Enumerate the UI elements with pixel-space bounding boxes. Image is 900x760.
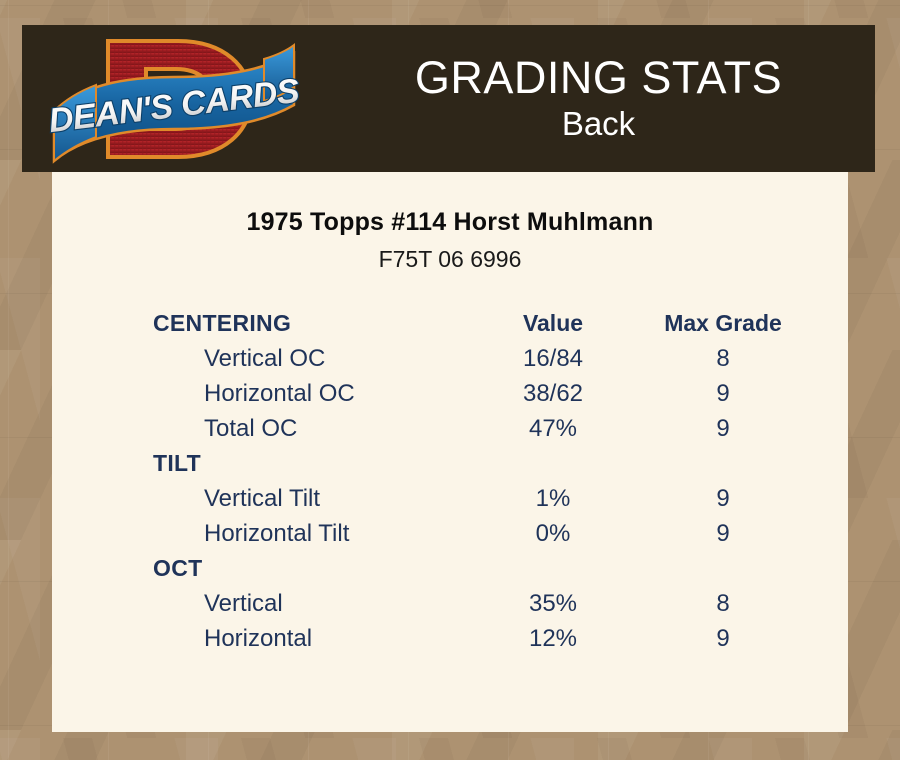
grading-stats-table: CENTERINGValueMax GradeVertical OC16/848… <box>52 306 848 656</box>
header-title-block: GRADING STATS Back <box>322 25 875 172</box>
stats-data-row: Horizontal12%9 <box>52 621 848 656</box>
stats-row-max-grade: 9 <box>643 481 803 516</box>
stats-row-max-grade: 9 <box>643 516 803 551</box>
stats-row-value: 0% <box>473 516 633 551</box>
stats-data-row: Total OC47%9 <box>52 411 848 446</box>
page-header: DEAN'S CARDS GRADING STATS Back <box>22 25 875 172</box>
stats-data-row: Vertical35%8 <box>52 586 848 621</box>
stats-row-value: 47% <box>473 411 633 446</box>
stats-row-label: Vertical <box>204 586 283 621</box>
stats-row-label: Vertical Tilt <box>204 481 320 516</box>
stats-data-row: Vertical Tilt1%9 <box>52 481 848 516</box>
grading-stats-page: DEAN'S CARDS GRADING STATS Back 1975 Top… <box>0 0 900 760</box>
stats-row-max-grade: 8 <box>643 341 803 376</box>
stats-row-max-grade: 9 <box>643 376 803 411</box>
stats-row-label: Horizontal OC <box>204 376 355 411</box>
stats-row-max-grade: 9 <box>643 411 803 446</box>
stats-row-value: 35% <box>473 586 633 621</box>
stats-section-label: CENTERING <box>153 306 291 341</box>
stats-section-row: CENTERINGValueMax Grade <box>52 306 848 341</box>
stats-row-label: Horizontal <box>204 621 312 656</box>
stats-row-label: Total OC <box>204 411 297 446</box>
stats-row-label: Horizontal Tilt <box>204 516 349 551</box>
card-serial-number: F75T 06 6996 <box>52 246 848 273</box>
stats-row-value: 12% <box>473 621 633 656</box>
card-title: 1975 Topps #114 Horst Muhlmann <box>52 208 848 237</box>
stats-row-label: Vertical OC <box>204 341 325 376</box>
stats-column-header-max-grade: Max Grade <box>643 306 803 341</box>
stats-section-row: TILT <box>52 446 848 481</box>
stats-section-row: OCT <box>52 551 848 586</box>
page-title: GRADING STATS <box>415 54 782 101</box>
content-panel: 1975 Topps #114 Horst Muhlmann F75T 06 6… <box>52 172 848 732</box>
stats-data-row: Vertical OC16/848 <box>52 341 848 376</box>
stats-section-label: OCT <box>153 551 202 586</box>
stats-row-max-grade: 8 <box>643 586 803 621</box>
page-subtitle: Back <box>562 105 635 143</box>
deans-cards-logo[interactable]: DEAN'S CARDS <box>46 29 302 169</box>
stats-row-value: 38/62 <box>473 376 633 411</box>
stats-data-row: Horizontal Tilt0%9 <box>52 516 848 551</box>
stats-row-value: 16/84 <box>473 341 633 376</box>
stats-column-header-value: Value <box>473 306 633 341</box>
stats-row-max-grade: 9 <box>643 621 803 656</box>
stats-row-value: 1% <box>473 481 633 516</box>
stats-section-label: TILT <box>153 446 201 481</box>
stats-data-row: Horizontal OC38/629 <box>52 376 848 411</box>
